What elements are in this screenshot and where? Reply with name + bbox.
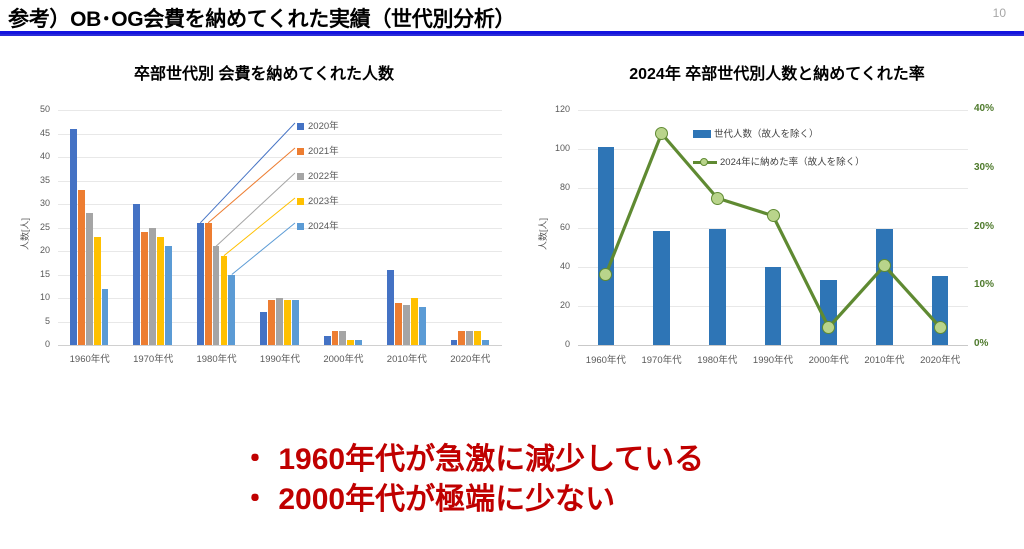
legend-item: 2023年 [297, 193, 339, 207]
category-label: 1980年代 [185, 351, 248, 365]
category-label: 1990年代 [248, 351, 311, 365]
bar [94, 237, 101, 345]
legend-swatch [297, 223, 304, 230]
page-number: 10 [993, 6, 1006, 20]
bar [466, 331, 473, 345]
chart-left-title: 卒部世代別 会費を納めてくれた人数 [14, 60, 514, 84]
legend-item: 世代人数（故人を除く） [693, 126, 819, 140]
bar [458, 331, 465, 345]
category-label: 1960年代 [578, 352, 634, 366]
category-label: 1970年代 [121, 351, 184, 365]
chart-right-title: 2024年 卒部世代別人数と納めてくれた率 [530, 60, 1024, 84]
gridline [58, 157, 502, 158]
legend-line-swatch [693, 157, 717, 167]
y2-tick-label: 10% [974, 279, 994, 290]
legend-swatch [297, 173, 304, 180]
category-label: 2010年代 [375, 351, 438, 365]
bar [347, 340, 354, 345]
bar [284, 300, 291, 345]
legend-label: 2022年 [308, 171, 339, 182]
header-rule-bottom [0, 34, 1024, 36]
bar [86, 213, 93, 345]
chart-right: 2024年 卒部世代別人数と納めてくれた率 人数[人] 世代人数（故人を除く）2… [530, 60, 1024, 380]
category-label: 1960年代 [58, 351, 121, 365]
y2-tick-label: 40% [974, 103, 994, 114]
gridline [58, 110, 502, 111]
legend-item: 2020年 [297, 118, 339, 132]
bar [102, 289, 109, 345]
bar [339, 331, 346, 345]
bar [395, 303, 402, 345]
bar [276, 298, 283, 345]
bar [157, 237, 164, 345]
bar [355, 340, 362, 345]
y-tick-label: 100 [534, 143, 570, 153]
page-title: 参考）OB･OG会費を納めてくれた実績（世代別分析） [8, 3, 515, 33]
summary-bullets: ・ 1960年代が急激に減少している ・ 2000年代が極端に少ない [240, 440, 860, 520]
bar [451, 340, 458, 345]
y-tick-label: 40 [534, 261, 570, 271]
bar [78, 190, 85, 345]
y-tick-label: 20 [20, 245, 50, 255]
slide-header: 参考）OB･OG会費を納めてくれた実績（世代別分析） 10 [0, 0, 1024, 36]
line-marker [767, 209, 780, 222]
bar [332, 331, 339, 345]
line-marker [822, 321, 835, 334]
chart-left-plot [58, 110, 502, 345]
gridline [58, 134, 502, 135]
y2-tick-label: 0% [974, 338, 988, 349]
rate-line [578, 110, 968, 345]
y-tick-label: 10 [20, 292, 50, 302]
bar [419, 307, 426, 345]
legend-bar-swatch [693, 130, 711, 138]
bar [482, 340, 489, 345]
legend-swatch [297, 148, 304, 155]
legend-label: 2020年 [308, 121, 339, 132]
category-label: 2000年代 [312, 351, 375, 365]
bar [260, 312, 267, 345]
y-tick-label: 15 [20, 269, 50, 279]
y-tick-label: 40 [20, 151, 50, 161]
chart-right-plot [578, 110, 968, 345]
gridline [58, 228, 502, 229]
bullet-1: ・ 1960年代が急激に減少している [240, 440, 860, 480]
bar [221, 256, 228, 345]
bar [165, 246, 172, 345]
bar [324, 336, 331, 345]
y-tick-label: 80 [534, 182, 570, 192]
chart-left: 卒部世代別 会費を納めてくれた人数 人数[人] 2020年2021年2022年2… [14, 60, 514, 380]
category-label: 2010年代 [857, 352, 913, 366]
category-label: 1970年代 [634, 352, 690, 366]
y2-tick-label: 20% [974, 221, 994, 232]
legend-item: 2024年に納めた率（故人を除く） [693, 154, 865, 168]
category-label: 2000年代 [801, 352, 857, 366]
legend-label: 2024年 [308, 221, 339, 232]
gridline [58, 181, 502, 182]
y-tick-label: 50 [20, 104, 50, 114]
legend-item: 2022年 [297, 168, 339, 182]
y-tick-label: 120 [534, 104, 570, 114]
legend-label: 2021年 [308, 146, 339, 157]
bar [403, 305, 410, 345]
y-tick-label: 20 [534, 300, 570, 310]
bar [149, 228, 156, 346]
legend-swatch [297, 123, 304, 130]
gridline [58, 275, 502, 276]
bar [474, 331, 481, 345]
legend-label: 2024年に納めた率（故人を除く） [720, 157, 865, 168]
y-tick-label: 5 [20, 316, 50, 326]
bar [213, 246, 220, 345]
bar [292, 300, 299, 345]
gridline [58, 204, 502, 205]
line-marker [655, 127, 668, 140]
y-tick-label: 35 [20, 175, 50, 185]
y2-tick-label: 30% [974, 162, 994, 173]
gridline [58, 345, 502, 346]
category-label: 2020年代 [439, 351, 502, 365]
legend-item: 2021年 [297, 143, 339, 157]
bar [70, 129, 77, 345]
legend-label: 世代人数（故人を除く） [714, 129, 819, 140]
bar [228, 275, 235, 346]
bar [141, 232, 148, 345]
gridline [578, 345, 968, 346]
category-label: 2020年代 [912, 352, 968, 366]
y-tick-label: 0 [20, 339, 50, 349]
slide: 参考）OB･OG会費を納めてくれた実績（世代別分析） 10 卒部世代別 会費を納… [0, 0, 1024, 549]
bar [387, 270, 394, 345]
bar [197, 223, 204, 345]
y-tick-label: 30 [20, 198, 50, 208]
legend-swatch [297, 198, 304, 205]
bullet-2: ・ 2000年代が極端に少ない [240, 480, 860, 520]
y-tick-label: 0 [534, 339, 570, 349]
y-tick-label: 45 [20, 128, 50, 138]
legend-item: 2024年 [297, 218, 339, 232]
y-tick-label: 60 [534, 222, 570, 232]
category-label: 1990年代 [745, 352, 801, 366]
bar [411, 298, 418, 345]
category-label: 1980年代 [689, 352, 745, 366]
line-marker [934, 321, 947, 334]
bar [205, 223, 212, 345]
bar [133, 204, 140, 345]
line-marker [711, 192, 724, 205]
gridline [58, 251, 502, 252]
legend-label: 2023年 [308, 196, 339, 207]
bar [268, 300, 275, 345]
y-tick-label: 25 [20, 222, 50, 232]
